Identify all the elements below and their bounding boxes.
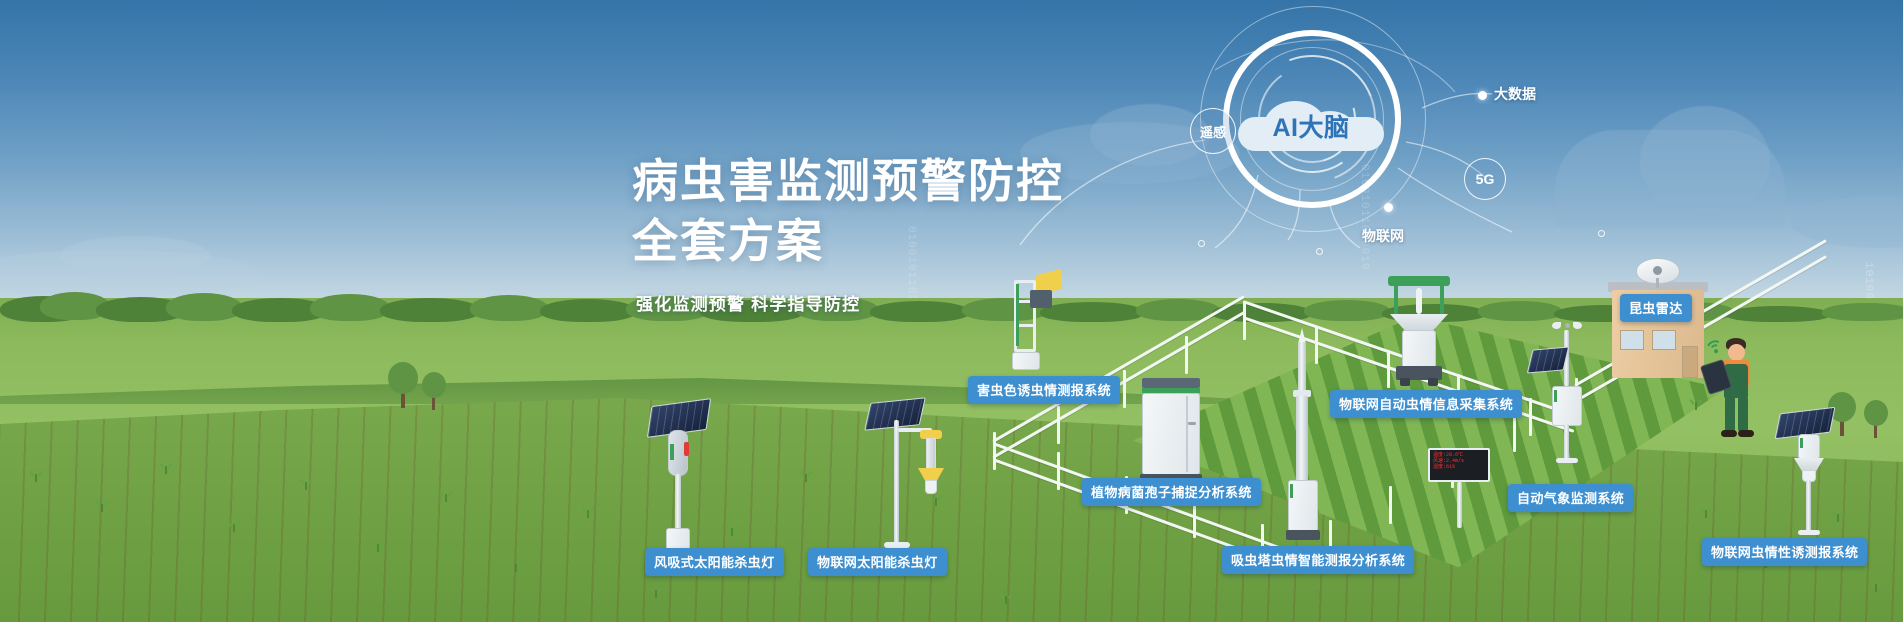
device-iot-solar-insect-lamp xyxy=(862,398,952,550)
pheromone-pole xyxy=(1806,480,1811,532)
label-color-trap-pest-forecast-system[interactable]: 害虫色诱虫情测报系统 xyxy=(968,376,1120,404)
node-endpoint xyxy=(1198,240,1205,247)
collector-leg xyxy=(1440,286,1444,316)
cloud-shape xyxy=(60,236,210,276)
tower-base xyxy=(1286,530,1320,540)
badge-5g[interactable]: 5G xyxy=(1464,158,1506,200)
node-dot-big-data xyxy=(1478,91,1487,100)
collector-lamp-tube xyxy=(1416,288,1422,314)
infographic-banner: 01001011010010 0100101101 10100101101001… xyxy=(0,0,1903,622)
title-line-2: 全套方案 xyxy=(632,212,1064,272)
node-dot-iot xyxy=(1384,203,1393,212)
cabinet-handle xyxy=(1188,422,1196,425)
led-row: 湿度:61% xyxy=(1433,464,1485,470)
device-iot-pheromone-pest-forecast-system xyxy=(1772,410,1852,538)
weather-stripe xyxy=(1554,390,1557,402)
radar-dish-feed xyxy=(1653,266,1662,275)
collector-wheel xyxy=(1400,378,1410,386)
tower-mid-mast xyxy=(1296,396,1308,482)
label-automatic-weather-monitoring-system[interactable]: 自动气象监测系统 xyxy=(1508,484,1633,512)
field-worker xyxy=(1700,338,1770,442)
device-wind-suction-solar-insect-lamp xyxy=(640,400,720,550)
building-window xyxy=(1620,330,1644,350)
trap-base xyxy=(1012,352,1040,370)
worker-leg xyxy=(1725,396,1735,432)
label-plant-pathogen-spore-capture-analysis-system[interactable]: 植物病菌孢子捕捉分析系统 xyxy=(1082,478,1261,506)
lamp-base-box xyxy=(666,528,690,550)
collector-wheel xyxy=(1428,378,1438,386)
badge-5g-label: 5G xyxy=(1476,171,1495,187)
label-insect-radar[interactable]: 昆虫雷达 xyxy=(1620,294,1692,322)
title-line-1: 病虫害监测预警防控 xyxy=(632,152,1064,212)
device-iot-automatic-pest-info-collection-system xyxy=(1382,276,1462,388)
badge-remote-sensing[interactable]: 遥感 xyxy=(1190,108,1236,154)
building-door xyxy=(1682,346,1698,378)
node-label-iot: 物联网 xyxy=(1362,226,1404,246)
cabinet-top xyxy=(1142,378,1200,388)
weather-footing xyxy=(1556,458,1578,463)
pheromone-footing xyxy=(1798,530,1820,535)
tree xyxy=(1864,400,1888,438)
device-color-trap-pest-forecast-system xyxy=(996,272,1076,382)
building-window xyxy=(1652,330,1676,350)
radar-dish-arm xyxy=(1656,278,1659,288)
cabinet-body xyxy=(1142,393,1200,475)
insect-trap-tube xyxy=(926,438,936,470)
worker-shoe xyxy=(1738,430,1754,437)
collector-leg xyxy=(1394,286,1398,316)
cloud-shape xyxy=(1640,106,1770,216)
label-iot-automatic-pest-info-collection-system[interactable]: 物联网自动虫情信息采集系统 xyxy=(1330,390,1522,418)
node-endpoint xyxy=(1316,248,1323,255)
weather-lower-pole xyxy=(1564,424,1569,460)
badge-remote-sensing-label: 遥感 xyxy=(1200,122,1226,141)
tree xyxy=(388,362,418,408)
label-iot-pheromone-pest-forecast-system[interactable]: 物联网虫情性诱测报系统 xyxy=(1702,538,1867,566)
pheromone-stripe xyxy=(1800,438,1803,448)
tree xyxy=(422,372,446,410)
weather-solar-panel xyxy=(1527,346,1570,373)
worker-head xyxy=(1728,344,1745,361)
node-endpoint xyxy=(1598,230,1605,237)
worker-leg xyxy=(1738,396,1748,432)
tower-upper-mast xyxy=(1298,342,1306,392)
node-label-big-data: 大数据 xyxy=(1494,84,1536,104)
wifi-icon xyxy=(1704,337,1728,359)
insect-collection-cup xyxy=(925,480,937,494)
tower-stripe xyxy=(1290,484,1293,498)
label-iot-solar-insect-lamp[interactable]: 物联网太阳能杀虫灯 xyxy=(808,548,947,576)
cabinet-door-seam xyxy=(1186,396,1188,472)
ai-core-label: AI大脑 xyxy=(1238,108,1384,144)
led-pole xyxy=(1457,482,1462,528)
lamp-stripe xyxy=(670,444,674,460)
device-plant-pathogen-spore-capture-analysis-system xyxy=(1140,378,1204,490)
lamp-pole xyxy=(675,474,681,532)
label-suction-tower-intelligent-forecast-analysis-system[interactable]: 吸虫塔虫情智能测报分析系统 xyxy=(1222,546,1414,574)
anemometer-cups xyxy=(1552,322,1582,330)
label-wind-suction-solar-insect-lamp[interactable]: 风吸式太阳能杀虫灯 xyxy=(645,548,784,576)
lamp-pole xyxy=(894,420,899,546)
led-screen: 温度:28.6℃ 风速:2.4m/s 湿度:61% xyxy=(1428,448,1490,482)
collector-body xyxy=(1402,330,1436,368)
trap-sensor-box xyxy=(1030,290,1052,308)
collector-canopy xyxy=(1388,276,1450,286)
crop-sprig xyxy=(1690,398,1702,410)
device-suction-tower-intelligent-forecast-analysis-system xyxy=(1278,328,1328,546)
lamp-indicator xyxy=(684,442,689,456)
worker-shoe xyxy=(1721,430,1737,437)
led-display-board: 温度:28.6℃ 风速:2.4m/s 湿度:61% xyxy=(1428,448,1494,528)
page-subtitle: 强化监测预警 科学指导防控 xyxy=(636,290,860,315)
trap-stripe xyxy=(1016,284,1019,346)
device-automatic-weather-monitoring-system xyxy=(1530,322,1610,466)
page-title: 病虫害监测预警防控 全套方案 xyxy=(632,152,1064,272)
